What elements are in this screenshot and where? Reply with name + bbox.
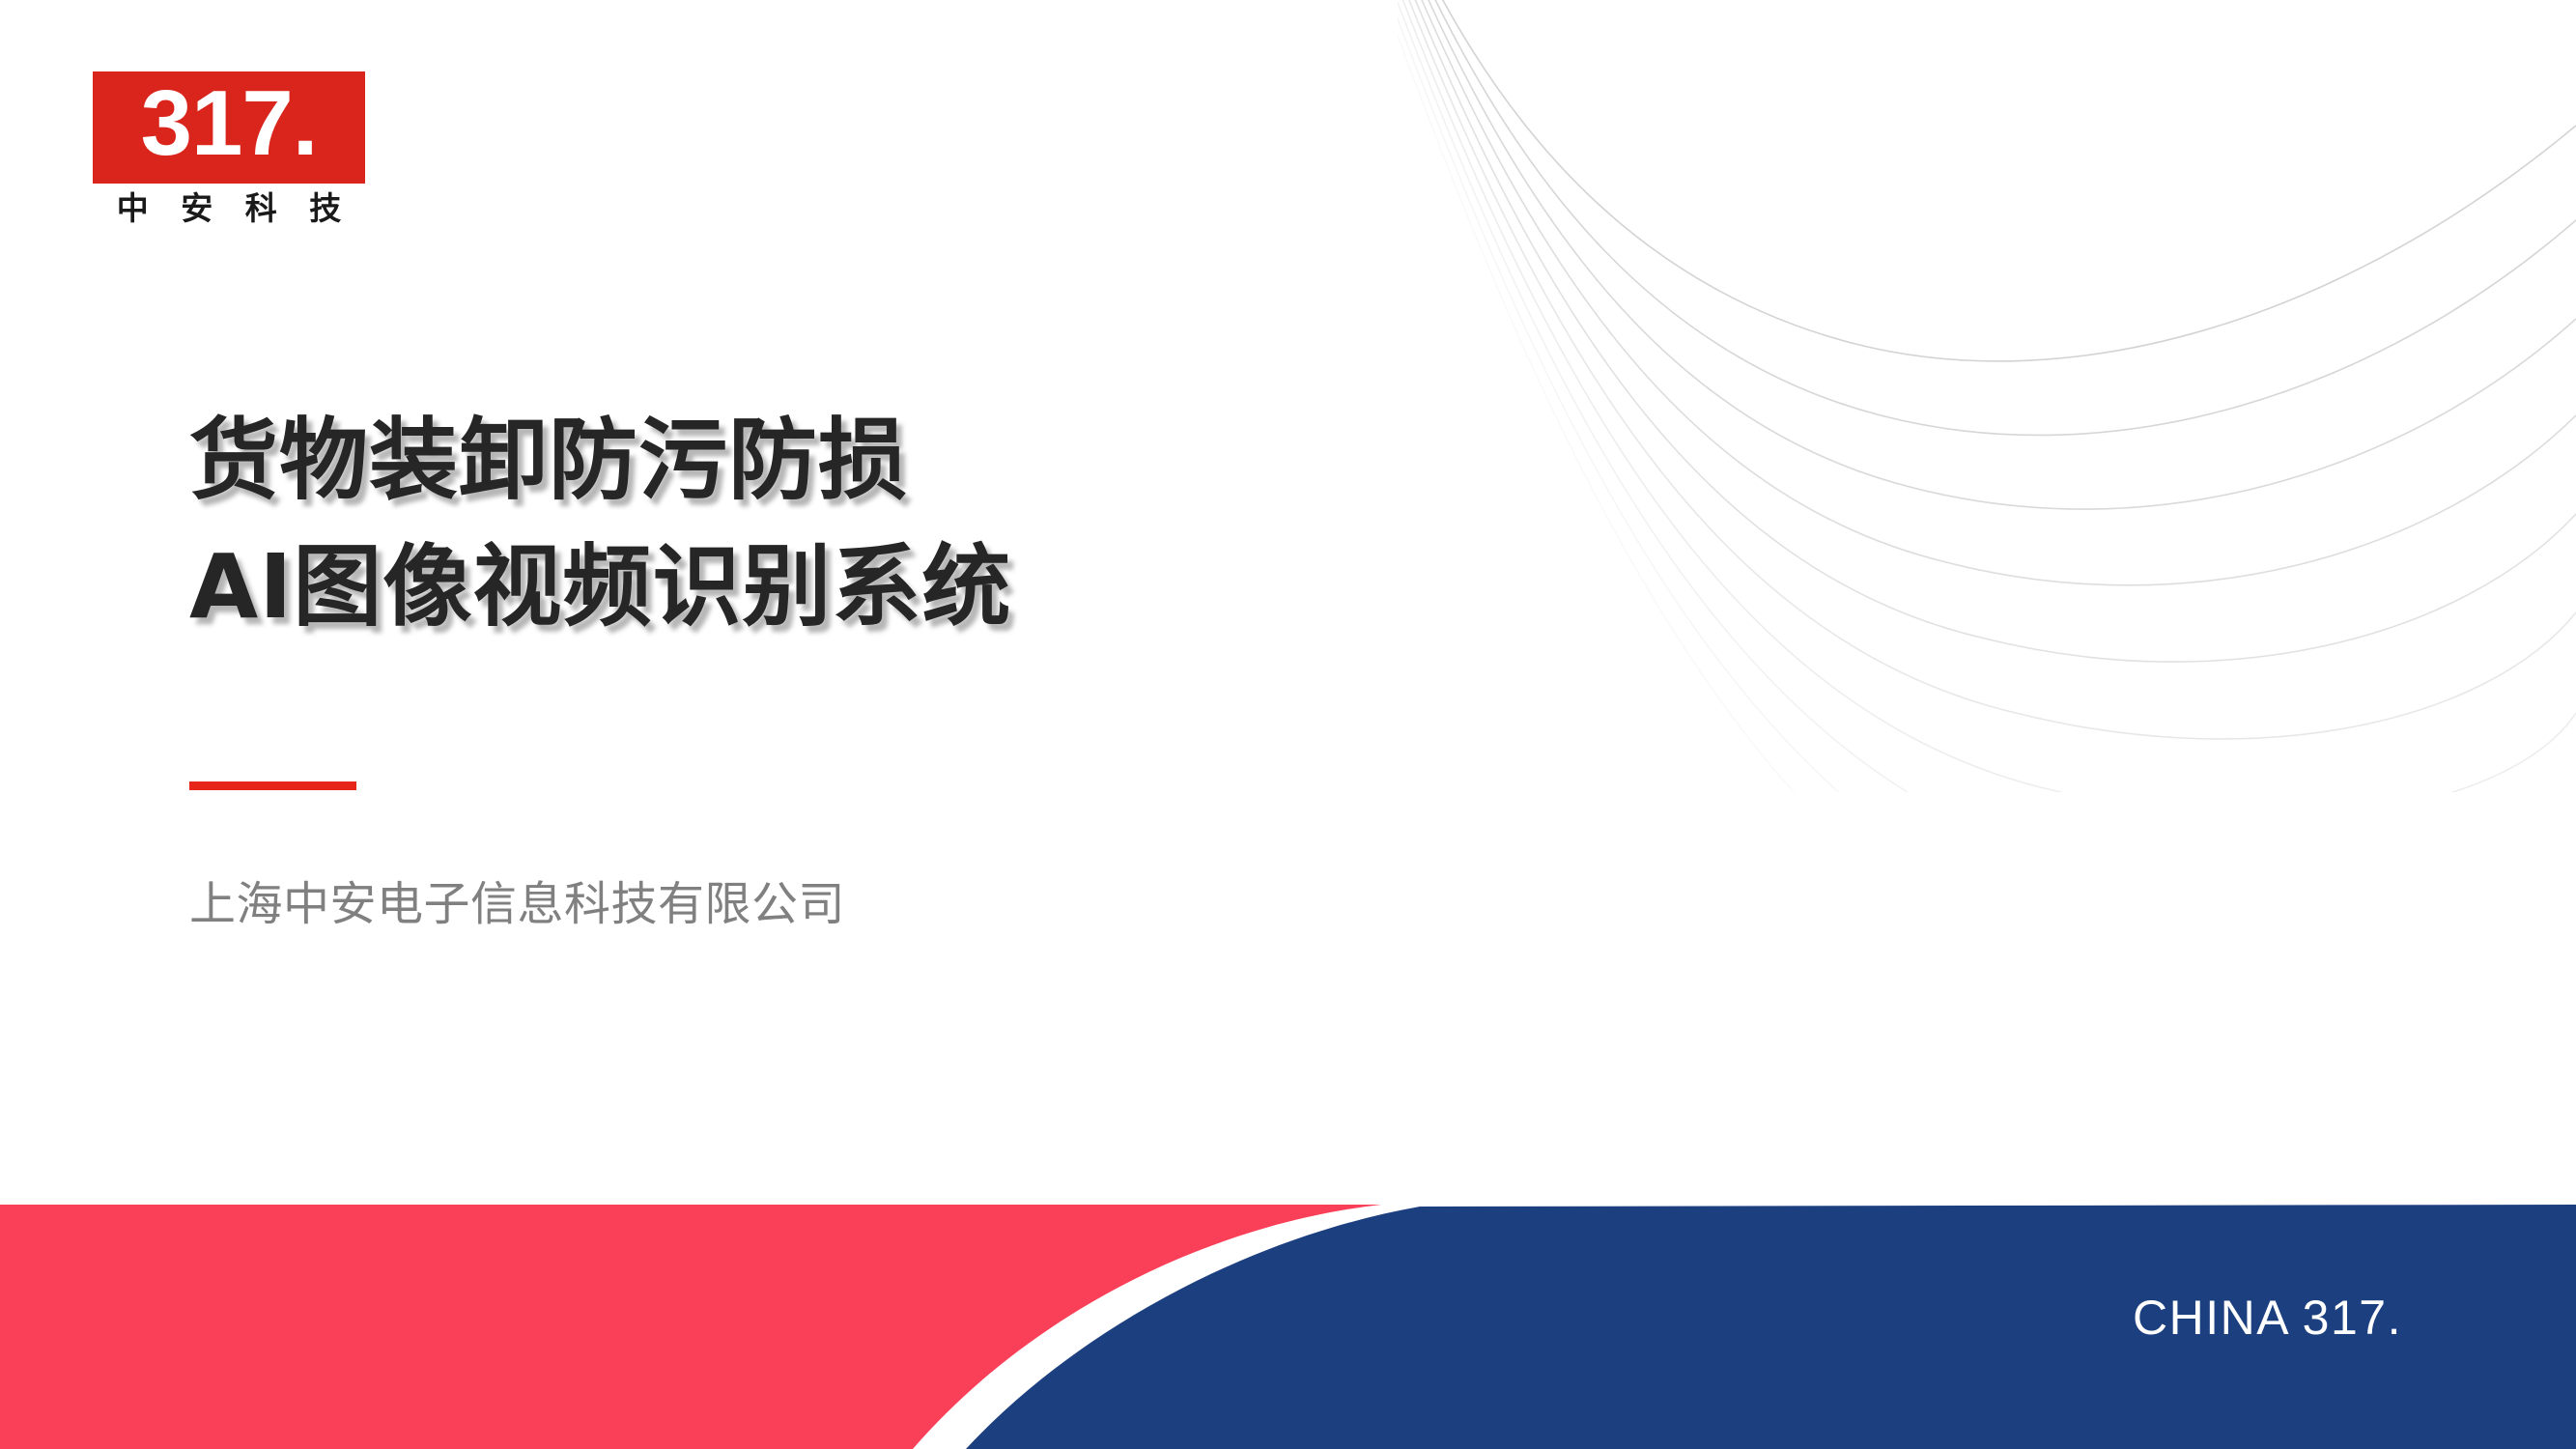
decorative-curve-fan (1398, 0, 2576, 792)
title-line-1: 货物装卸防污防损 (189, 398, 1445, 525)
company-logo: 317. 中 安 科 技 (93, 71, 365, 226)
page-title: 货物装卸防污防损 AI图像视频识别系统 (189, 398, 1445, 650)
company-name-subtitle: 上海中安电子信息科技有限公司 (189, 877, 845, 933)
slide-canvas: 317. 中 安 科 技 货物装卸防污防损 AI图像视频识别系统 上海中安电子信… (0, 0, 2576, 1449)
bottom-banner: CHINA 317. (0, 1205, 2576, 1449)
accent-rule-divider (189, 781, 356, 790)
logo-mark-text: 317. (141, 77, 318, 170)
logo-mark-box: 317. (93, 71, 365, 184)
title-line-2: AI图像视频识别系统 (189, 525, 1445, 651)
logo-subtitle-text: 中 安 科 技 (93, 191, 365, 226)
banner-brand-label: CHINA 317. (2133, 1293, 2402, 1342)
